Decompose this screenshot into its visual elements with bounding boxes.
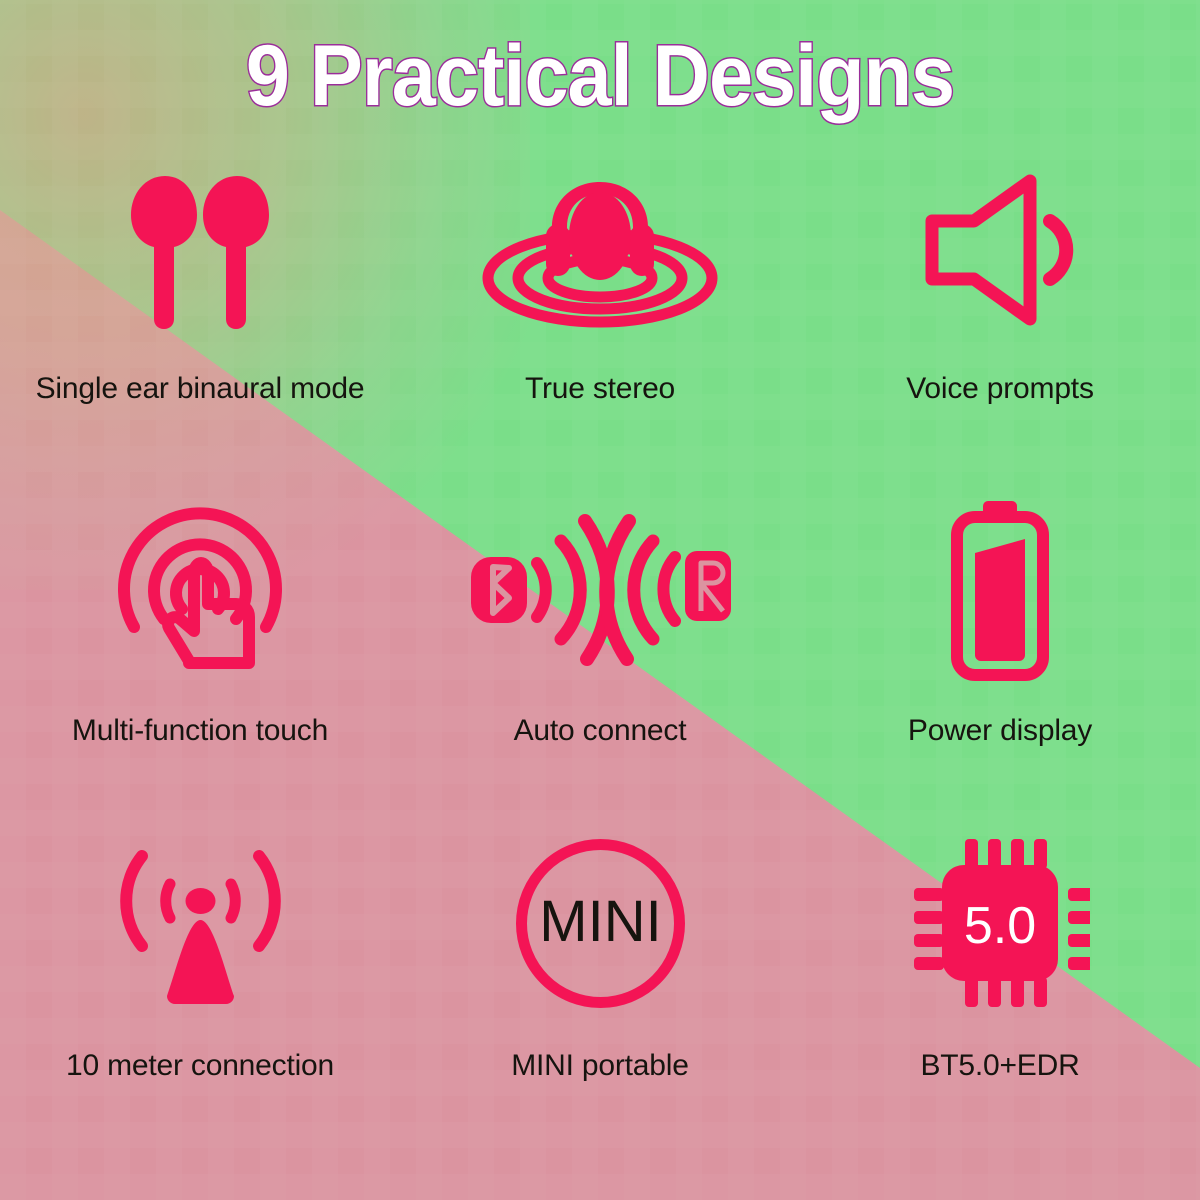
feature-label: True stereo: [525, 372, 675, 406]
feature-label: MINI portable: [511, 1049, 688, 1083]
poster-title: 9 Practical Designs: [48, 33, 1152, 119]
chip-icon: 5.0: [800, 823, 1200, 1023]
feature-cell-single-ear-binaural-mode: Single ear binaural mode: [0, 150, 400, 487]
feature-cell-10-meter-connection: 10 meter connection: [0, 823, 400, 1160]
feature-cell-auto-connect: Auto connect: [400, 487, 800, 824]
feature-label: Voice prompts: [906, 372, 1094, 406]
feature-label: Multi-function touch: [72, 714, 328, 748]
feature-cell-mini-portable: MINI MINI portable: [400, 823, 800, 1160]
mini-badge-text: MINI: [539, 889, 661, 954]
feature-cell-bt50-edr: 5.0 BT5.0+EDR: [800, 823, 1200, 1160]
feature-label: BT5.0+EDR: [920, 1049, 1079, 1083]
feature-cell-voice-prompts: Voice prompts: [800, 150, 1200, 487]
infographic-poster: 9 Practical Designs Single ear binaural …: [0, 0, 1200, 1200]
mini-circle-icon: MINI: [400, 823, 800, 1023]
feature-label: 10 meter connection: [66, 1049, 334, 1083]
feature-cell-multi-function-touch: Multi-function touch: [0, 487, 400, 824]
bluetooth-nfc-icon: [400, 487, 800, 692]
feature-cell-true-stereo: True stereo: [400, 150, 800, 487]
headphones-waves-icon: [400, 150, 800, 350]
feature-label: Single ear binaural mode: [36, 372, 365, 406]
earbuds-icon: [0, 150, 400, 350]
feature-label: Auto connect: [514, 714, 687, 748]
feature-label: Power display: [908, 714, 1092, 748]
battery-icon: [800, 487, 1200, 692]
touch-ripple-icon: [0, 487, 400, 692]
chip-version-text: 5.0: [964, 897, 1036, 955]
feature-grid: Single ear binaural mode: [0, 150, 1200, 1160]
speaker-icon: [800, 150, 1200, 350]
feature-cell-power-display: Power display: [800, 487, 1200, 824]
antenna-signal-icon: [0, 823, 400, 1023]
